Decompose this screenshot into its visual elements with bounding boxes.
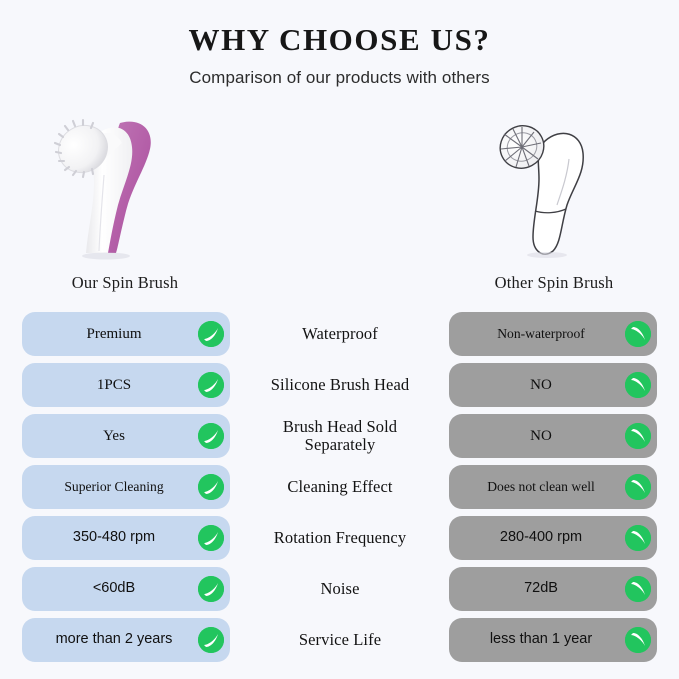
other-value-text: less than 1 year bbox=[459, 632, 625, 648]
our-value-text: more than 2 years bbox=[32, 632, 198, 648]
check-circle-flipped-icon bbox=[625, 423, 651, 449]
other-value-pill: 280-400 rpm bbox=[449, 516, 657, 560]
other-value-text: NO bbox=[459, 377, 625, 394]
other-value-text: 72dB bbox=[459, 581, 625, 597]
comparison-row: Premium Waterproof Non-waterproof bbox=[0, 312, 679, 356]
our-value-text: 1PCS bbox=[32, 377, 198, 394]
our-value-pill: 350-480 rpm bbox=[22, 516, 230, 560]
our-value-text: 350-480 rpm bbox=[32, 530, 198, 546]
check-circle-icon bbox=[198, 423, 224, 449]
check-circle-flipped-icon bbox=[625, 627, 651, 653]
other-value-pill: NO bbox=[449, 414, 657, 458]
our-spin-brush-image bbox=[0, 96, 255, 261]
other-value-text: Non-waterproof bbox=[459, 327, 625, 342]
other-value-text: Does not clean well bbox=[459, 480, 625, 495]
check-circle-flipped-icon bbox=[625, 474, 651, 500]
other-value-pill: 72dB bbox=[449, 567, 657, 611]
feature-label: Service Life bbox=[240, 618, 440, 662]
check-circle-flipped-icon bbox=[625, 576, 651, 602]
other-value-pill: Does not clean well bbox=[449, 465, 657, 509]
feature-label: Silicone Brush Head bbox=[240, 363, 440, 407]
our-value-text: <60dB bbox=[32, 581, 198, 597]
check-circle-icon bbox=[198, 576, 224, 602]
check-circle-icon bbox=[198, 525, 224, 551]
our-value-pill: <60dB bbox=[22, 567, 230, 611]
header: WHY CHOOSE US? Comparison of our product… bbox=[0, 22, 679, 88]
other-spin-brush-image bbox=[424, 96, 679, 261]
other-value-text: NO bbox=[459, 428, 625, 445]
page-subtitle: Comparison of our products with others bbox=[0, 68, 679, 88]
comparison-row: 350-480 rpm Rotation Frequency 280-400 r… bbox=[0, 516, 679, 560]
check-circle-flipped-icon bbox=[625, 525, 651, 551]
check-circle-icon bbox=[198, 321, 224, 347]
product-theirs: Other Spin Brush bbox=[424, 96, 679, 293]
other-spin-brush-label: Other Spin Brush bbox=[424, 273, 679, 293]
our-value-text: Yes bbox=[32, 428, 198, 445]
page-title: WHY CHOOSE US? bbox=[0, 22, 679, 58]
other-value-pill: Non-waterproof bbox=[449, 312, 657, 356]
product-row: Our Spin Brush bbox=[0, 96, 679, 306]
feature-label-line2: Separately bbox=[305, 435, 376, 454]
feature-label: Waterproof bbox=[240, 312, 440, 356]
our-value-pill: Premium bbox=[22, 312, 230, 356]
feature-label: Brush Head Sold Separately bbox=[240, 414, 440, 458]
feature-label: Noise bbox=[240, 567, 440, 611]
line-art-spin-brush-graphic bbox=[489, 101, 619, 261]
our-spin-brush-label: Our Spin Brush bbox=[0, 273, 255, 293]
our-value-pill: 1PCS bbox=[22, 363, 230, 407]
comparison-table: Premium Waterproof Non-waterproof 1PCS bbox=[0, 312, 679, 662]
comparison-row: <60dB Noise 72dB bbox=[0, 567, 679, 611]
comparison-row: Yes Brush Head Sold Separately NO bbox=[0, 414, 679, 458]
comparison-row: 1PCS Silicone Brush Head NO bbox=[0, 363, 679, 407]
check-circle-flipped-icon bbox=[625, 321, 651, 347]
comparison-infographic: WHY CHOOSE US? Comparison of our product… bbox=[0, 0, 679, 679]
feature-label: Rotation Frequency bbox=[240, 516, 440, 560]
our-value-text: Superior Cleaning bbox=[32, 480, 198, 495]
purple-white-spin-brush-graphic bbox=[50, 101, 200, 261]
feature-label: Cleaning Effect bbox=[240, 465, 440, 509]
comparison-row: Superior Cleaning Cleaning Effect Does n… bbox=[0, 465, 679, 509]
check-circle-icon bbox=[198, 474, 224, 500]
check-circle-icon bbox=[198, 372, 224, 398]
other-value-pill: less than 1 year bbox=[449, 618, 657, 662]
our-value-pill: Yes bbox=[22, 414, 230, 458]
check-circle-flipped-icon bbox=[625, 372, 651, 398]
our-value-pill: Superior Cleaning bbox=[22, 465, 230, 509]
check-circle-icon bbox=[198, 627, 224, 653]
feature-label-line1: Brush Head Sold bbox=[283, 417, 397, 436]
comparison-row: more than 2 years Service Life less than… bbox=[0, 618, 679, 662]
our-value-pill: more than 2 years bbox=[22, 618, 230, 662]
product-ours: Our Spin Brush bbox=[0, 96, 255, 293]
our-value-text: Premium bbox=[32, 326, 198, 343]
other-value-pill: NO bbox=[449, 363, 657, 407]
other-value-text: 280-400 rpm bbox=[459, 530, 625, 546]
